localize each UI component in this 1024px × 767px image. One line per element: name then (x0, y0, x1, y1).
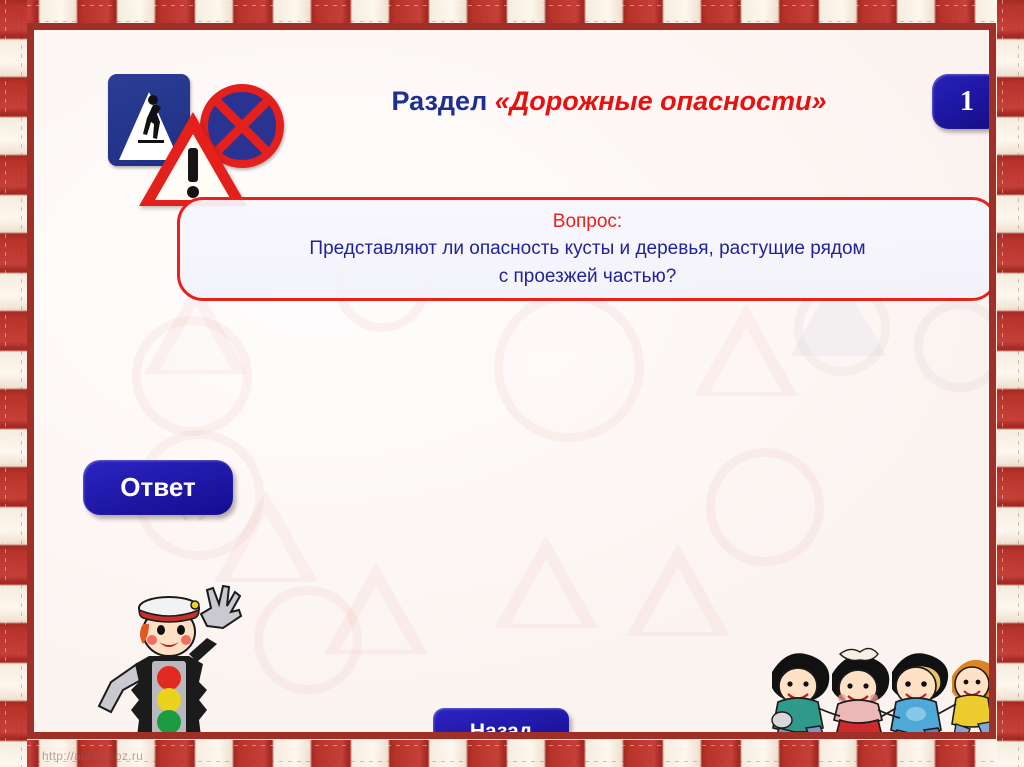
border-bottom (0, 740, 1024, 767)
watermark-sign-triangle (626, 544, 730, 636)
border-right (997, 0, 1024, 767)
road-sign-cluster (108, 74, 288, 204)
back-button-label: Назад (470, 720, 532, 733)
back-button[interactable]: Назад (433, 708, 569, 732)
watermark-sign-car (914, 300, 989, 392)
question-line-1: Представляют ли опасность кусты и деревь… (206, 235, 969, 263)
title-highlight: «Дорожные опасности» (495, 86, 827, 116)
walking-children-illustration (756, 636, 989, 732)
watermark-sign-triangle (694, 304, 798, 396)
answer-button[interactable]: Ответ (83, 460, 233, 515)
traffic-light-mascot (89, 578, 249, 732)
content-frame: 3.5 Раздел «Дорожные опасности» (27, 23, 996, 739)
child-teal (764, 653, 840, 732)
answer-button-label: Ответ (120, 472, 195, 503)
watermark-sign-railway (324, 562, 428, 654)
slide-root: 3.5 Раздел «Дорожные опасности» (0, 0, 1024, 767)
child-pink (825, 648, 900, 732)
border-left (0, 0, 27, 767)
slide-canvas: 3.5 Раздел «Дорожные опасности» (34, 30, 989, 732)
title-prefix: Раздел (392, 86, 495, 116)
watermark-sign-triangle (494, 536, 598, 628)
question-label: Вопрос: (206, 209, 969, 235)
question-line-2: с проезжей частью? (206, 263, 969, 291)
watermark-sign-no-entry (494, 292, 644, 442)
page-title: Раздел «Дорожные опасности» (289, 86, 929, 117)
warning-exclamation-sign (139, 112, 247, 206)
question-box: Вопрос: Представляют ли опасность кусты … (177, 197, 989, 301)
watermark-url: http://aida.ucoz.ru (42, 749, 143, 763)
slide-number-badge[interactable]: 1 (932, 74, 989, 129)
badge-number: 1 (960, 88, 974, 116)
